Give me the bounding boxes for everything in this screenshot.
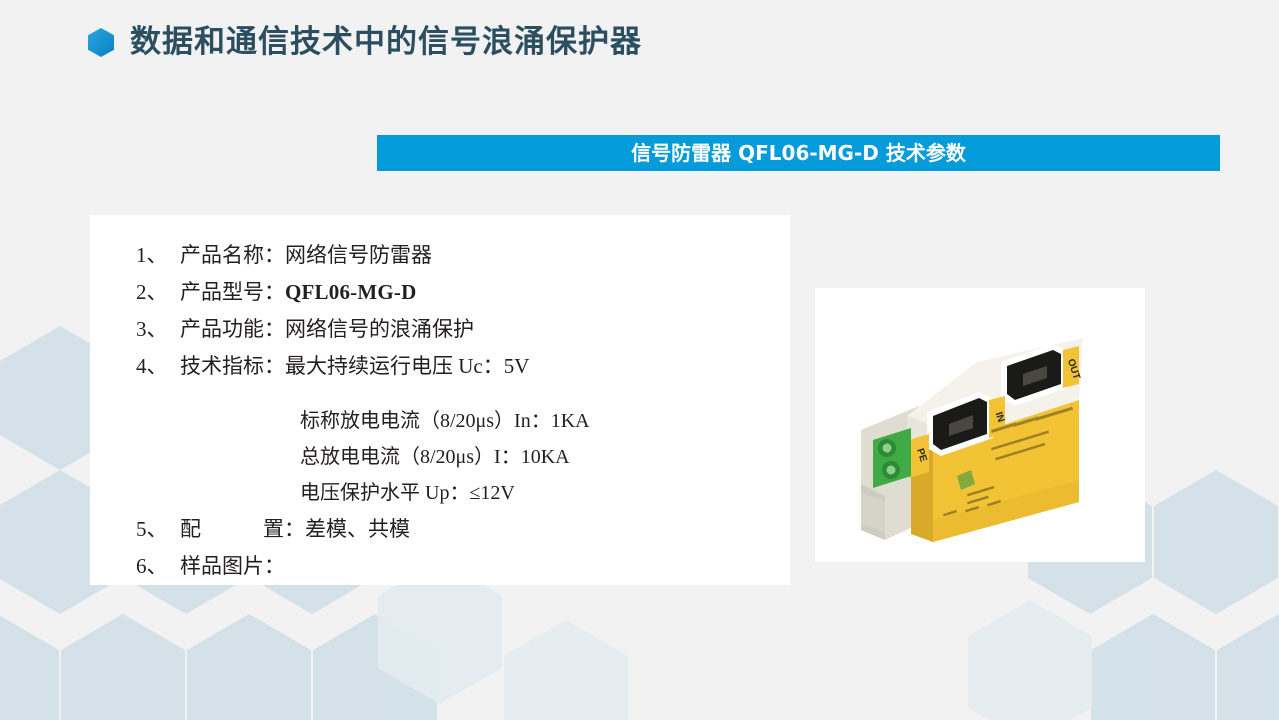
section-banner: 信号防雷器 QFL06-MG-D 技术参数 xyxy=(377,135,1220,171)
spec-sub-item-3: 电压保护水平 Up：≤12V xyxy=(90,475,790,511)
spec-item-4: 4、 技术指标： 最大持续运行电压 Uc：5V xyxy=(90,348,790,385)
product-photo-panel: OUT IN PE xyxy=(815,288,1145,562)
spec-item-6: 6、 样品图片： xyxy=(90,548,790,585)
spec-item-2-number: 2、 xyxy=(136,274,180,311)
spec-item-3: 3、 产品功能： 网络信号的浪涌保护 xyxy=(90,311,790,348)
spec-item-3-value: 网络信号的浪涌保护 xyxy=(285,311,474,348)
spec-sub-item-1: 标称放电电流（8/20μs）In：1KA xyxy=(90,403,790,439)
spec-item-1-value: 网络信号防雷器 xyxy=(285,237,432,274)
spec-item-3-number: 3、 xyxy=(136,311,180,348)
spec-item-5-label-b: 置： xyxy=(263,511,305,548)
spec-item-1-number: 1、 xyxy=(136,237,180,274)
spec-item-2-value: QFL06-MG-D xyxy=(285,274,416,311)
page-title: 数据和通信技术中的信号浪涌保护器 xyxy=(130,27,642,58)
spec-item-1-label: 产品名称： xyxy=(180,237,285,274)
spec-sub-item-2: 总放电电流（8/20μs）I：10KA xyxy=(90,439,790,475)
specification-panel: 1、 产品名称： 网络信号防雷器 2、 产品型号： QFL06-MG-D 3、 … xyxy=(90,215,790,585)
spec-item-4-number: 4、 xyxy=(136,348,180,385)
spec-item-1: 1、 产品名称： 网络信号防雷器 xyxy=(90,237,790,274)
spec-item-4-label: 技术指标： xyxy=(180,348,285,385)
slide-title-row: 数据和通信技术中的信号浪涌保护器 xyxy=(88,27,642,58)
spec-item-4-value: 最大持续运行电压 Uc：5V xyxy=(285,348,529,385)
spec-item-6-number: 6、 xyxy=(136,548,180,585)
spec-spacer xyxy=(90,385,790,403)
spec-item-3-label: 产品功能： xyxy=(180,311,285,348)
section-banner-text: 信号防雷器 QFL06-MG-D 技术参数 xyxy=(631,143,966,163)
product-photo: OUT IN PE xyxy=(815,288,1145,562)
spec-item-5-value: 差模、共模 xyxy=(305,511,410,548)
spec-item-5-label-a: 配 xyxy=(180,511,201,548)
spec-item-2-label: 产品型号： xyxy=(180,274,285,311)
spec-item-6-label: 样品图片： xyxy=(180,548,285,585)
hexagon-icon xyxy=(88,28,114,57)
earth-screw-2-slot xyxy=(887,466,896,475)
specification-list: 1、 产品名称： 网络信号防雷器 2、 产品型号： QFL06-MG-D 3、 … xyxy=(90,237,790,585)
spec-item-5: 5、 配 置： 差模、共模 xyxy=(90,511,790,548)
spec-item-2: 2、 产品型号： QFL06-MG-D xyxy=(90,274,790,311)
spec-item-5-number: 5、 xyxy=(136,511,180,548)
earth-screw-1-slot xyxy=(883,444,892,453)
